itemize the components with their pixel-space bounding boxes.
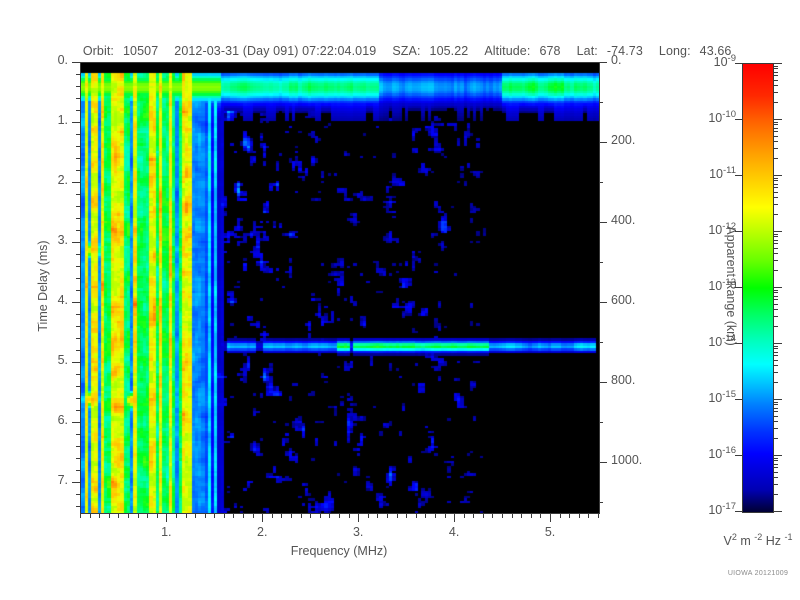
colorbar-major-tick-right xyxy=(774,231,782,232)
y-axis-tick-label: 6. xyxy=(0,413,68,427)
y-axis-tick-label: 3. xyxy=(0,233,68,247)
y-axis-minor-tick xyxy=(76,338,80,339)
y-axis-minor-tick xyxy=(76,158,80,159)
x-axis-minor-tick xyxy=(281,513,282,518)
y-axis-major-tick xyxy=(72,482,80,483)
x-axis-minor-tick xyxy=(425,513,426,518)
y-axis-major-tick xyxy=(72,182,80,183)
colorbar-minor-tick xyxy=(774,270,778,271)
y-axis-minor-tick xyxy=(76,326,80,327)
y-axis-minor-tick xyxy=(76,146,80,147)
y-axis-minor-tick xyxy=(76,278,80,279)
x-axis-minor-tick xyxy=(406,513,407,518)
colorbar-minor-tick xyxy=(774,408,778,409)
colorbar-major-tick-right xyxy=(774,175,782,176)
y-axis-minor-tick xyxy=(76,374,80,375)
unit-hertz-exponent: -1 xyxy=(785,532,793,542)
y2-axis-minor-tick xyxy=(599,262,603,263)
colorbar-minor-tick xyxy=(774,243,778,244)
y-axis-major-tick xyxy=(72,242,80,243)
altitude-value: 678 xyxy=(539,44,560,58)
colorbar-minor-tick xyxy=(774,299,778,300)
x-axis-minor-tick xyxy=(186,513,187,518)
colorbar-minor-tick xyxy=(774,411,778,412)
x-axis-minor-tick xyxy=(214,513,215,518)
colorbar-minor-tick xyxy=(774,248,778,249)
y-axis-major-tick xyxy=(72,62,80,63)
y-axis-minor-tick xyxy=(76,290,80,291)
unit-meters-exponent: -2 xyxy=(754,532,762,542)
x-axis-minor-tick xyxy=(224,513,225,518)
colorbar-major-tick xyxy=(735,231,742,232)
y-axis-minor-tick xyxy=(76,434,80,435)
y-axis-minor-tick xyxy=(76,386,80,387)
colorbar-minor-tick xyxy=(774,309,778,310)
x-axis-minor-tick xyxy=(502,513,503,518)
x-axis-minor-tick xyxy=(377,513,378,518)
y-axis-minor-tick xyxy=(76,446,80,447)
x-axis-minor-tick xyxy=(205,513,206,518)
y2-axis-minor-tick xyxy=(599,102,603,103)
colorbar-minor-tick xyxy=(774,290,778,291)
y-axis-minor-tick xyxy=(76,74,80,75)
colorbar-tick-label: 10-16 xyxy=(686,445,736,461)
colorbar-minor-tick xyxy=(774,260,778,261)
latitude-label: Lat: xyxy=(577,44,598,58)
x-axis-tick-label: 4. xyxy=(434,525,474,539)
colorbar-minor-tick xyxy=(774,365,778,366)
colorbar-major-tick xyxy=(735,511,742,512)
colorbar-minor-tick xyxy=(774,158,778,159)
x-axis-minor-tick xyxy=(512,513,513,518)
x-axis-minor-tick xyxy=(301,513,302,518)
colorbar-minor-tick xyxy=(774,180,778,181)
colorbar-minor-tick xyxy=(774,472,778,473)
colorbar-major-tick-right xyxy=(774,63,782,64)
x-axis-minor-tick xyxy=(579,513,580,518)
x-axis-minor-tick xyxy=(492,513,493,518)
colorbar-minor-tick xyxy=(774,304,778,305)
y-axis-minor-tick xyxy=(76,230,80,231)
y2-axis-major-tick xyxy=(599,62,607,63)
y2-axis-tick-label: 200. xyxy=(611,133,635,147)
x-axis-minor-tick xyxy=(233,513,234,518)
x-axis-minor-tick xyxy=(272,513,273,518)
colorbar-minor-tick xyxy=(774,234,778,235)
x-axis-minor-tick xyxy=(90,513,91,518)
ionogram-heatmap-canvas xyxy=(81,63,599,513)
colorbar-minor-tick xyxy=(774,355,778,356)
colorbar-minor-tick xyxy=(774,428,778,429)
colorbar-major-tick xyxy=(735,343,742,344)
y2-axis-tick-label: 0. xyxy=(611,53,621,67)
x-axis-minor-tick xyxy=(243,513,244,518)
y-axis-minor-tick xyxy=(76,398,80,399)
x-axis-major-tick xyxy=(166,513,167,522)
y-axis-minor-tick xyxy=(76,350,80,351)
colorbar-minor-tick xyxy=(774,316,778,317)
colorbar-minor-tick xyxy=(774,187,778,188)
colorbar-major-tick xyxy=(735,175,742,176)
colorbar-major-tick-right xyxy=(774,287,782,288)
colorbar-minor-tick xyxy=(774,382,778,383)
x-axis-minor-tick xyxy=(387,513,388,518)
y-axis-minor-tick xyxy=(76,254,80,255)
colorbar-minor-tick xyxy=(774,68,778,69)
colorbar xyxy=(742,63,774,513)
x-axis-minor-tick xyxy=(253,513,254,518)
x-axis-minor-tick xyxy=(157,513,158,518)
observation-datetime: 2012-03-31 (Day 091) 07:22:04.019 xyxy=(174,44,376,58)
sza-value: 105.22 xyxy=(430,44,469,58)
y-axis-major-tick xyxy=(72,362,80,363)
colorbar-minor-tick xyxy=(774,296,778,297)
x-axis-minor-tick xyxy=(473,513,474,518)
colorbar-minor-tick xyxy=(774,124,778,125)
colorbar-tick-label: 10-13 xyxy=(686,277,736,293)
colorbar-major-tick-right xyxy=(774,343,782,344)
colorbar-major-tick-right xyxy=(774,455,782,456)
x-axis-minor-tick xyxy=(99,513,100,518)
colorbar-tick-label: 10-10 xyxy=(686,109,736,125)
x-axis-tick-label: 5. xyxy=(530,525,570,539)
y-axis-minor-tick xyxy=(76,266,80,267)
y-axis-minor-tick xyxy=(76,470,80,471)
y2-axis-minor-tick xyxy=(599,502,603,503)
altitude-label: Altitude: xyxy=(484,44,530,58)
y2-axis-minor-tick xyxy=(599,182,603,183)
x-axis-minor-tick xyxy=(560,513,561,518)
y-axis-minor-tick xyxy=(76,170,80,171)
colorbar-minor-tick xyxy=(774,458,778,459)
x-axis-minor-tick xyxy=(445,513,446,518)
colorbar-tick-label: 10-17 xyxy=(686,501,736,517)
colorbar-major-tick xyxy=(735,399,742,400)
y-axis-tick-label: 4. xyxy=(0,293,68,307)
x-axis-minor-tick xyxy=(569,513,570,518)
colorbar-minor-tick xyxy=(774,292,778,293)
y-axis-minor-tick xyxy=(76,206,80,207)
y2-axis-tick-label: 800. xyxy=(611,373,635,387)
x-axis-tick-label: 1. xyxy=(146,525,186,539)
colorbar-tick-label: 10-14 xyxy=(686,333,736,349)
x-axis-minor-tick xyxy=(310,513,311,518)
y-axis-tick-label: 2. xyxy=(0,173,68,187)
y-axis-tick-label: 0. xyxy=(0,53,68,67)
colorbar-minor-tick xyxy=(774,197,778,198)
y2-axis-major-tick xyxy=(599,302,607,303)
colorbar-minor-tick xyxy=(774,214,778,215)
colorbar-major-tick-right xyxy=(774,511,782,512)
colorbar-minor-tick xyxy=(774,148,778,149)
colorbar-major-tick xyxy=(735,455,742,456)
y2-axis-major-tick xyxy=(599,222,607,223)
y2-axis-tick-label: 400. xyxy=(611,213,635,227)
x-axis-minor-tick xyxy=(80,513,81,518)
y-axis-minor-tick xyxy=(76,134,80,135)
colorbar-minor-tick xyxy=(774,348,778,349)
colorbar-minor-tick xyxy=(774,75,778,76)
colorbar-minor-tick xyxy=(774,438,778,439)
colorbar-minor-tick xyxy=(774,416,778,417)
y2-axis-major-tick xyxy=(599,462,607,463)
x-axis-minor-tick xyxy=(464,513,465,518)
x-axis-minor-tick xyxy=(109,513,110,518)
y-axis-minor-tick xyxy=(76,458,80,459)
y2-axis-major-tick xyxy=(599,382,607,383)
colorbar-major-tick-right xyxy=(774,119,782,120)
y-axis-major-tick xyxy=(72,122,80,123)
colorbar-tick-label: 10-11 xyxy=(686,165,736,181)
colorbar-minor-tick xyxy=(774,460,778,461)
colorbar-minor-tick xyxy=(774,346,778,347)
y2-axis-tick-label: 600. xyxy=(611,293,635,307)
unit-meters: m xyxy=(740,534,750,548)
y-axis-minor-tick xyxy=(76,314,80,315)
sza-label: SZA: xyxy=(392,44,420,58)
colorbar-minor-tick xyxy=(774,102,778,103)
colorbar-minor-tick xyxy=(774,372,778,373)
colorbar-minor-tick xyxy=(774,128,778,129)
y-axis-tick-label: 5. xyxy=(0,353,68,367)
colorbar-minor-tick xyxy=(774,484,778,485)
y-axis-major-tick xyxy=(72,422,80,423)
colorbar-unit-label: V2 m -2 Hz -1 xyxy=(700,532,800,548)
x-axis-minor-tick xyxy=(349,513,350,518)
x-axis-minor-tick xyxy=(540,513,541,518)
x-axis-minor-tick xyxy=(397,513,398,518)
colorbar-major-tick xyxy=(735,63,742,64)
colorbar-minor-tick xyxy=(774,85,778,86)
x-axis-minor-tick xyxy=(128,513,129,518)
colorbar-minor-tick xyxy=(774,253,778,254)
unit-hertz: Hz xyxy=(766,534,781,548)
ionogram-plot-area xyxy=(80,62,600,514)
x-axis-title: Frequency (MHz) xyxy=(80,544,598,558)
colorbar-minor-tick xyxy=(774,72,778,73)
x-axis-tick-label: 3. xyxy=(338,525,378,539)
colorbar-minor-tick xyxy=(774,141,778,142)
y-axis-minor-tick xyxy=(76,218,80,219)
colorbar-tick-label: 10-15 xyxy=(686,389,736,405)
x-axis-minor-tick xyxy=(320,513,321,518)
y-axis-major-tick xyxy=(72,302,80,303)
colorbar-minor-tick xyxy=(774,467,778,468)
y2-axis-minor-tick xyxy=(599,422,603,423)
x-axis-minor-tick xyxy=(118,513,119,518)
colorbar-minor-tick xyxy=(774,192,778,193)
colorbar-minor-tick xyxy=(774,92,778,93)
y-axis-minor-tick xyxy=(76,506,80,507)
colorbar-minor-tick xyxy=(774,178,778,179)
colorbar-minor-tick xyxy=(774,204,778,205)
x-axis-major-tick xyxy=(454,513,455,522)
x-axis-tick-label: 2. xyxy=(242,525,282,539)
x-axis-minor-tick xyxy=(598,513,599,518)
y-axis-tick-label: 7. xyxy=(0,473,68,487)
x-axis-minor-tick xyxy=(368,513,369,518)
y-axis-minor-tick xyxy=(76,194,80,195)
colorbar-minor-tick xyxy=(774,352,778,353)
x-axis-minor-tick xyxy=(531,513,532,518)
x-axis-minor-tick xyxy=(416,513,417,518)
colorbar-minor-tick xyxy=(774,494,778,495)
y-axis-title-left: Time Delay (ms) xyxy=(36,221,50,351)
colorbar-minor-tick xyxy=(774,80,778,81)
x-axis-minor-tick xyxy=(195,513,196,518)
colorbar-minor-tick xyxy=(774,404,778,405)
orbit-label: Orbit: xyxy=(83,44,114,58)
colorbar-minor-tick xyxy=(774,477,778,478)
colorbar-minor-tick xyxy=(774,184,778,185)
colorbar-minor-tick xyxy=(774,66,778,67)
institution-credit: UIOWA 20121009 xyxy=(700,570,800,577)
colorbar-minor-tick xyxy=(774,131,778,132)
x-axis-major-tick xyxy=(550,513,551,522)
colorbar-major-tick xyxy=(735,119,742,120)
colorbar-tick-label: 10-9 xyxy=(686,53,736,69)
y-axis-tick-label: 1. xyxy=(0,113,68,127)
y-axis-minor-tick xyxy=(76,86,80,87)
colorbar-minor-tick xyxy=(774,360,778,361)
colorbar-minor-tick xyxy=(774,402,778,403)
x-axis-minor-tick xyxy=(435,513,436,518)
y2-axis-minor-tick xyxy=(599,342,603,343)
x-axis-minor-tick xyxy=(138,513,139,518)
x-axis-minor-tick xyxy=(147,513,148,518)
x-axis-minor-tick xyxy=(588,513,589,518)
colorbar-minor-tick xyxy=(774,240,778,241)
y-axis-minor-tick xyxy=(76,494,80,495)
colorbar-minor-tick xyxy=(774,136,778,137)
colorbar-major-tick-right xyxy=(774,399,782,400)
orbit-value: 10507 xyxy=(123,44,158,58)
unit-volts: V xyxy=(723,534,731,548)
colorbar-minor-tick xyxy=(774,326,778,327)
y-axis-minor-tick xyxy=(76,98,80,99)
y2-axis-major-tick xyxy=(599,142,607,143)
x-axis-minor-tick xyxy=(339,513,340,518)
y-axis-minor-tick xyxy=(76,110,80,111)
y2-axis-tick-label: 1000. xyxy=(611,453,642,467)
unit-volts-exponent: 2 xyxy=(732,532,737,542)
x-axis-minor-tick xyxy=(291,513,292,518)
x-axis-major-tick xyxy=(358,513,359,522)
colorbar-tick-label: 10-12 xyxy=(686,221,736,237)
colorbar-minor-tick xyxy=(774,236,778,237)
colorbar-minor-tick xyxy=(774,421,778,422)
x-axis-minor-tick xyxy=(483,513,484,518)
x-axis-minor-tick xyxy=(176,513,177,518)
colorbar-minor-tick xyxy=(774,122,778,123)
x-axis-minor-tick xyxy=(521,513,522,518)
x-axis-minor-tick xyxy=(329,513,330,518)
colorbar-minor-tick xyxy=(774,464,778,465)
x-axis-major-tick xyxy=(262,513,263,522)
y-axis-minor-tick xyxy=(76,410,80,411)
colorbar-major-tick xyxy=(735,287,742,288)
